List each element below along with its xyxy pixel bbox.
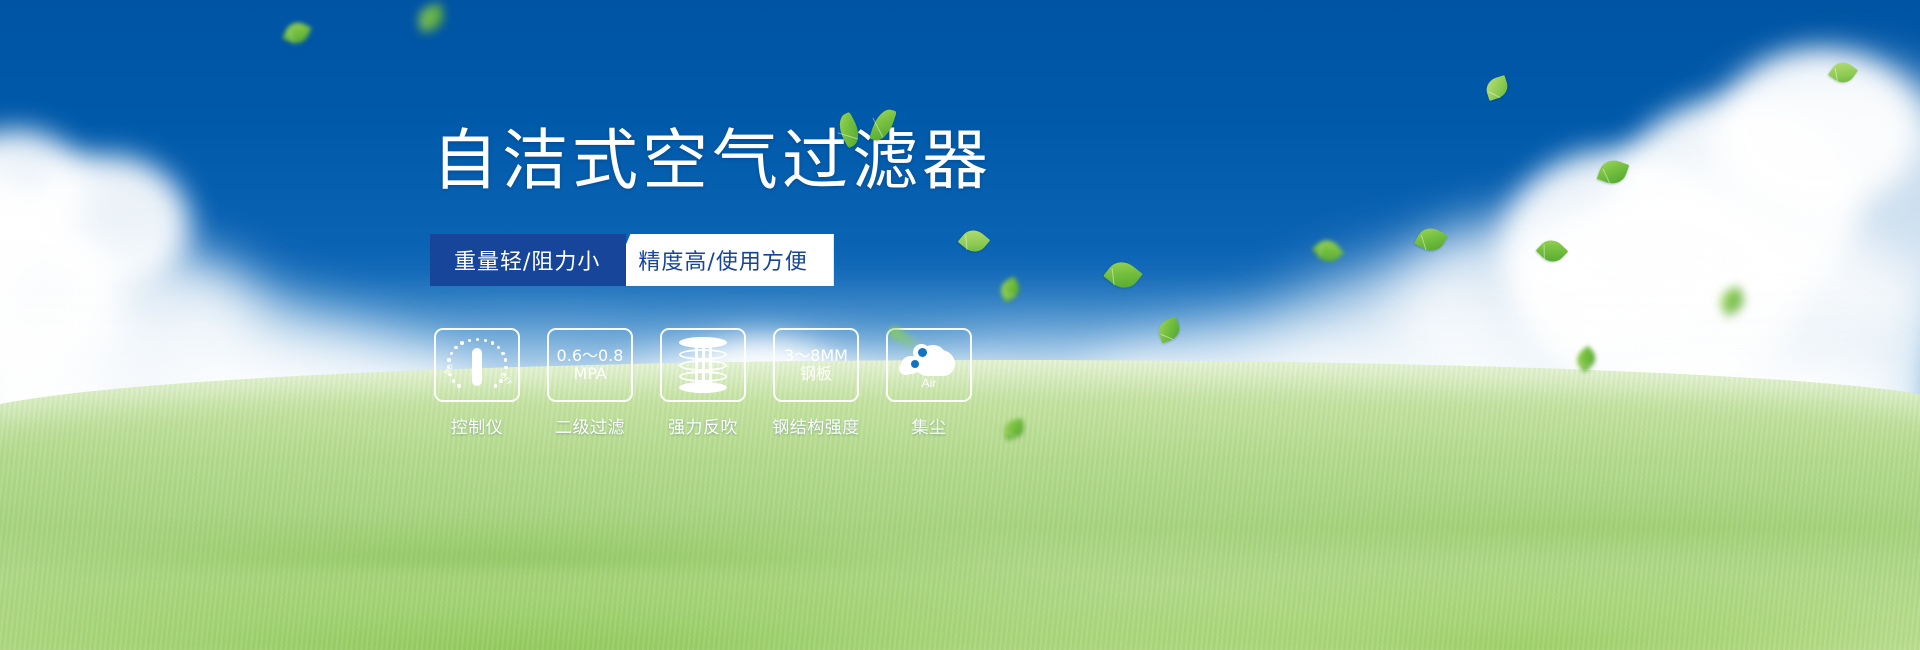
feature-item-controller[interactable]: NO OFF 控制仪 [434, 328, 520, 438]
cloud-air-icon: Air [899, 342, 959, 388]
feature-item-strong-backblow[interactable]: 强力反吹 [660, 328, 746, 438]
feature-icon-box: Air [886, 328, 972, 402]
gauge-label-no: NO [443, 363, 456, 377]
feature-label: 二级过滤 [555, 413, 625, 438]
feature-item-steel-strength[interactable]: 3～8MM 钢板 钢结构强度 [773, 328, 859, 438]
feature-box-line2: 钢板 [800, 365, 832, 383]
feature-item-two-stage-filter[interactable]: 0.6～0.8 MPA 二级过滤 [547, 328, 633, 438]
feature-box-line2: MPA [573, 365, 606, 383]
air-label: Air [899, 377, 959, 390]
banner-content: 自洁式空气过滤器 重量轻/阻力小 精度高/使用方便 [0, 0, 1920, 650]
feature-box-line1: 0.6～0.8 [557, 347, 624, 365]
leaf-icon [869, 106, 897, 144]
feature-icon-box: NO OFF [434, 328, 520, 402]
badge-lightweight-lowresistance[interactable]: 重量轻/阻力小 [430, 234, 626, 286]
badge-precision-easyuse[interactable]: 精度高/使用方便 [608, 234, 833, 286]
feature-list: NO OFF 控制仪 0.6～0.8 MPA 二级过滤 [434, 328, 972, 438]
feature-label: 集尘 [912, 413, 947, 438]
feature-label: 控制仪 [451, 413, 504, 438]
feature-item-dust-collection[interactable]: Air 集尘 [886, 328, 972, 438]
hero-banner: 自洁式空气过滤器 重量轻/阻力小 精度高/使用方便 [0, 0, 1920, 650]
filter-coil-icon [679, 337, 727, 393]
feature-icon-box [660, 328, 746, 402]
badge-label: 精度高/使用方便 [638, 244, 807, 276]
sprout-decoration [840, 108, 910, 154]
gauge-label-off: OFF [497, 372, 512, 388]
tagline-badges: 重量轻/阻力小 精度高/使用方便 [430, 234, 834, 286]
feature-icon-box: 3～8MM 钢板 [773, 328, 859, 402]
gauge-dial-icon: NO OFF [445, 336, 509, 394]
badge-label: 重量轻/阻力小 [454, 244, 600, 276]
feature-box-line1: 3～8MM [784, 347, 848, 365]
feature-label: 强力反吹 [668, 413, 738, 438]
feature-label: 钢结构强度 [772, 413, 860, 438]
feature-icon-box: 0.6～0.8 MPA [547, 328, 633, 402]
